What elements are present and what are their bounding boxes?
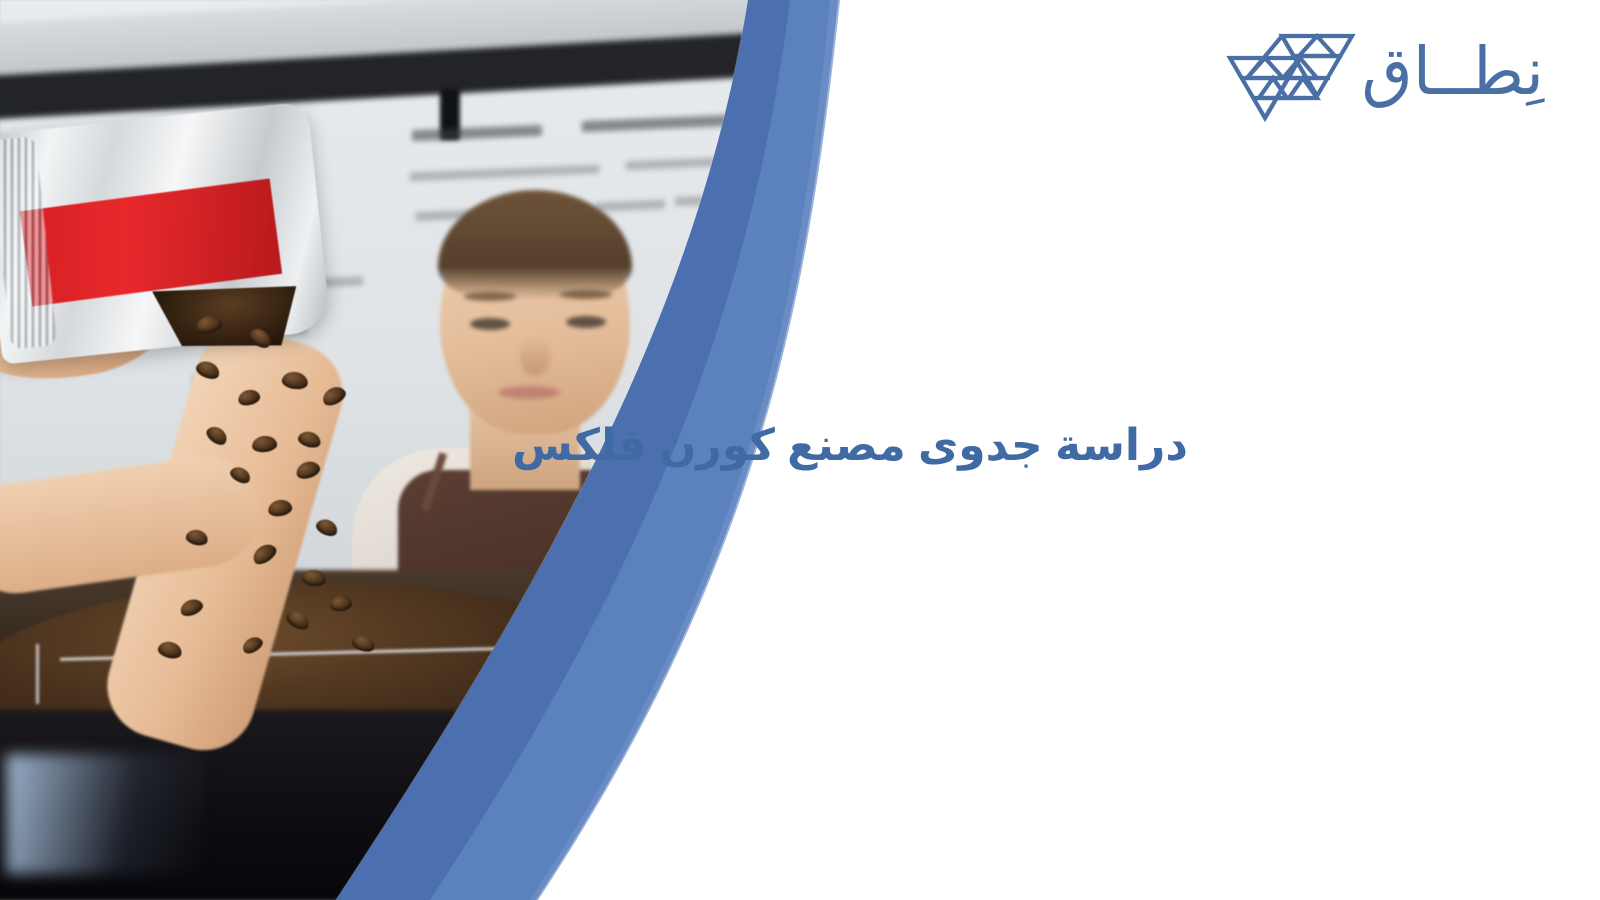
triangle-lattice-mark bbox=[1226, 26, 1356, 122]
barista-eye-left bbox=[470, 318, 510, 330]
slide-title-text: دراسة جدوى مصنع كورن فلكس bbox=[512, 420, 1188, 471]
coffee-bag bbox=[0, 101, 331, 364]
brand-logo-text: نِطــاق bbox=[1362, 38, 1545, 110]
slide-title: دراسة جدوى مصنع كورن فلكس bbox=[0, 420, 1600, 471]
barista-mouth bbox=[498, 386, 560, 399]
barista-brow-right bbox=[560, 290, 612, 299]
brand-logo[interactable]: نِطــاق bbox=[1226, 26, 1545, 122]
counter-reflection bbox=[6, 754, 206, 874]
barista-brow-left bbox=[464, 292, 516, 301]
barista-eye-right bbox=[566, 316, 606, 328]
cover-slide: نِطــاق bbox=[0, 0, 1600, 900]
barista-nose bbox=[520, 336, 550, 376]
